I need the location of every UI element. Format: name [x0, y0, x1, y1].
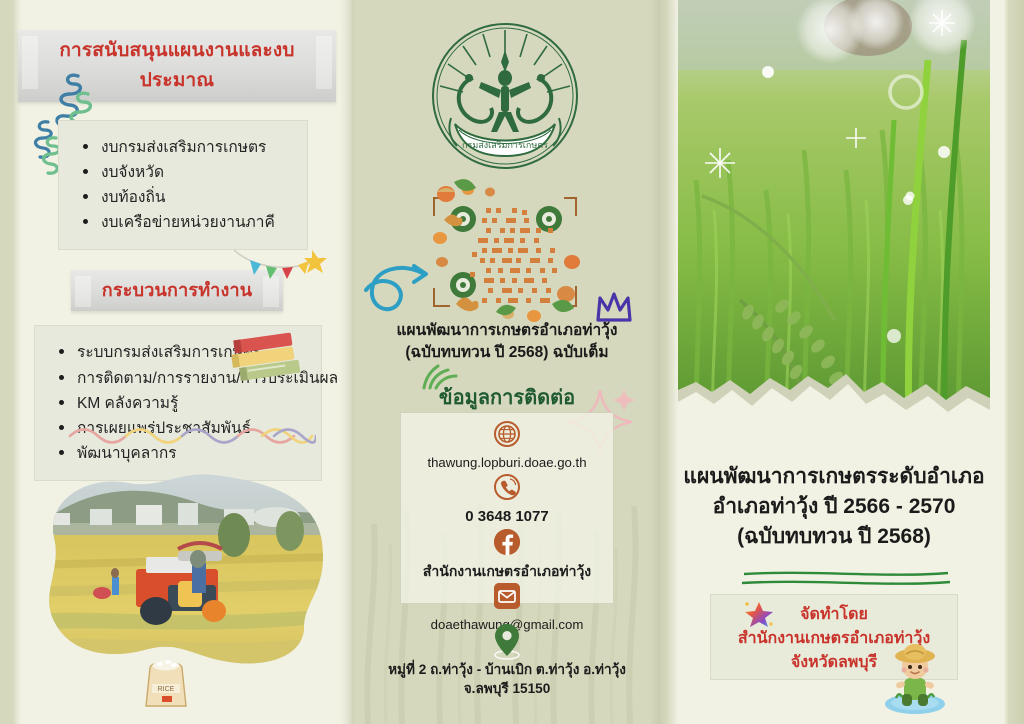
colorful-star-icon — [744, 600, 774, 628]
contact-row-phone[interactable]: 0 3648 1077 — [401, 474, 613, 527]
blue-loop-arrow-decoration — [362, 250, 432, 330]
svg-text:RICE: RICE — [158, 686, 175, 693]
address-line2: จ.ลพบุรี 15150 — [358, 679, 656, 698]
leaf-decoration — [454, 179, 574, 315]
list-item: งบท้องถิ่น — [81, 185, 293, 210]
farmer-kid-illustration — [882, 638, 948, 714]
list-item: KM คลังความรู้ — [57, 391, 307, 416]
qr-code[interactable] — [416, 176, 598, 328]
list-item: งบกรมส่งเสริมการเกษตร — [81, 135, 293, 160]
panel-left: การสนับสนุนแผนงานและงบประมาณ งบกรมส่งเสร… — [0, 0, 354, 724]
qr-caption-line2: (ฉบับทบทวน ปี 2568) ฉบับเต็ม — [354, 342, 660, 364]
contact-row-facebook[interactable]: สำนักงานเกษตรอำเภอท่าวุ้ง — [401, 529, 613, 581]
qr-caption: แผนพัฒนาการเกษตรอำเภอท่าวุ้ง (ฉบับทบทวน … — [354, 320, 660, 365]
page-title-line2: อำเภอท่าวุ้ง ปี 2566 - 2570 — [678, 492, 990, 522]
doae-seal-logo: กรมส่งเสริมการเกษตร — [429, 20, 581, 172]
rice-bag-illustration: RICE — [140, 650, 192, 710]
brochure-page: การสนับสนุนแผนงานและงบประมาณ งบกรมส่งเสร… — [0, 0, 1024, 724]
contact-row-website[interactable]: thawung.lopburi.doae.go.th — [401, 421, 613, 472]
contact-website-value: thawung.lopburi.doae.go.th — [401, 454, 613, 472]
address-line1: หมู่ที่ 2 ถ.ท่าวุ้ง - บ้านเบิก ต.ท่าวุ้ง… — [358, 660, 656, 679]
divider-double-rule — [740, 570, 952, 588]
page-title-line1: แผนพัฒนาการเกษตรระดับอำเภอ — [678, 462, 990, 492]
map-pin-icon — [491, 622, 523, 660]
wavy-lines-decoration — [66, 420, 316, 452]
phone-icon — [494, 474, 520, 500]
contact-card: thawung.lopburi.doae.go.th 0 3648 1077 — [400, 412, 614, 604]
doae-seal-text: กรมส่งเสริมการเกษตร — [462, 140, 548, 150]
qr-caption-line1: แผนพัฒนาการเกษตรอำเภอท่าวุ้ง — [354, 320, 660, 342]
budget-list-box: งบกรมส่งเสริมการเกษตร งบจังหวัด งบท้องถิ… — [58, 120, 308, 250]
list-item: งบจังหวัด — [81, 160, 293, 185]
heading-work-process-label: กระบวนการทำงาน — [102, 280, 253, 300]
address-block: หมู่ที่ 2 ถ.ท่าวุ้ง - บ้านเบิก ต.ท่าวุ้ง… — [358, 660, 656, 699]
stacked-books-decoration — [228, 330, 306, 386]
page-title: แผนพัฒนาการเกษตรระดับอำเภอ อำเภอท่าวุ้ง … — [678, 462, 990, 551]
panel-middle: กรมส่งเสริมการเกษตร — [354, 0, 660, 724]
email-icon — [494, 583, 520, 609]
contact-phone-value: 0 3648 1077 — [401, 507, 613, 527]
facebook-icon — [494, 529, 520, 555]
party-flags-decoration — [232, 248, 327, 288]
panel-right: แผนพัฒนาการเกษตรระดับอำเภอ อำเภอท่าวุ้ง … — [660, 0, 1024, 724]
globe-icon — [494, 421, 520, 447]
list-item: งบเครือข่ายหน่วยงานภาคี — [81, 210, 293, 235]
budget-list: งบกรมส่งเสริมการเกษตร งบจังหวัด งบท้องถิ… — [81, 135, 293, 235]
contact-facebook-value: สำนักงานเกษตรอำเภอท่าวุ้ง — [401, 562, 613, 581]
page-title-line3: (ฉบับทบทวน ปี 2568) — [678, 522, 990, 552]
